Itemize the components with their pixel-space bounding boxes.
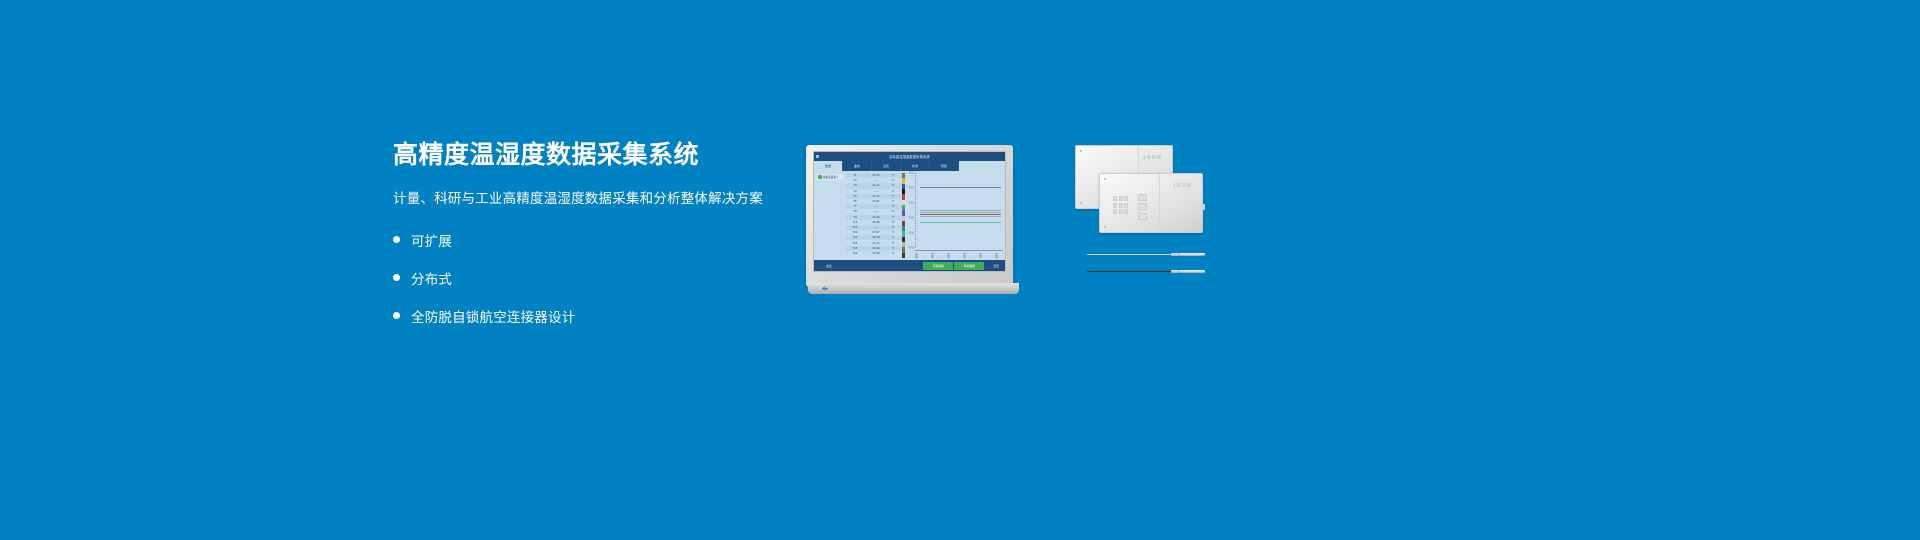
app-window-title: 高精度温湿度数据采集系统 — [889, 154, 930, 159]
cell-value: ---- — [864, 205, 888, 208]
y-tick-label: 25.0 — [909, 172, 914, 175]
tab-data[interactable]: 数据 — [814, 161, 843, 171]
chart-plot-area — [915, 173, 1003, 248]
exit-button[interactable]: 退出 — [826, 264, 832, 268]
cell-value: 24.13 — [864, 242, 888, 245]
feature-label: 全防脱自锁航空连接器设计 — [411, 306, 575, 326]
temperature-probe-steel — [1087, 253, 1205, 256]
channel-color-legend — [902, 173, 905, 258]
device-list-panel: 数据采集器 1 — [814, 171, 846, 260]
cell-channel: T4 — [846, 190, 864, 193]
cell-unit: ℃ — [888, 242, 898, 245]
logger-seam — [1159, 174, 1160, 232]
chart-series-line — [920, 222, 1001, 223]
probe-collar — [1171, 253, 1179, 256]
monitor-bezel: 高精度温湿度数据采集系统 数据 曲线 设置 校准 — [806, 145, 1013, 287]
app-bottom-bar: 退出 开始采集 导出数据 设置 — [814, 260, 1005, 271]
cell-unit: ℃ — [888, 231, 898, 234]
cell-channel: T11 — [846, 226, 864, 229]
cell-value: 23.96 — [864, 252, 888, 255]
cell-channel: T5 — [846, 195, 864, 198]
monitor-stand — [808, 283, 1019, 294]
cell-unit: ℃ — [888, 236, 898, 239]
tab-calibration[interactable]: 校准 — [901, 161, 930, 171]
probe-collar — [1171, 270, 1179, 273]
device-product-images: JNON JNON — [1065, 145, 1205, 295]
cell-unit: ℃ — [888, 221, 898, 224]
export-data-button[interactable]: 导出数据 — [954, 262, 984, 270]
cell-value: 23.15 — [864, 174, 888, 177]
cell-channel: T13 — [846, 236, 864, 239]
y-tick-label: 23.0 — [909, 202, 914, 205]
cell-value: ---- — [864, 210, 888, 213]
temperature-probe-black — [1087, 270, 1205, 273]
tab-help[interactable]: 帮助 — [930, 161, 959, 171]
trend-chart: 25.024.023.022.021.020.0 10:0010:1010:20… — [906, 173, 1003, 258]
cell-value: ---- — [864, 190, 888, 193]
cell-unit: ℃ — [888, 200, 898, 203]
tab-label: 曲线 — [854, 164, 860, 168]
table-row[interactable]: T1623.96℃ — [846, 251, 902, 256]
feature-label: 可扩展 — [411, 230, 452, 250]
cell-channel: T8 — [846, 210, 864, 213]
cell-unit: ℃ — [888, 195, 898, 198]
cell-unit: ℃ — [888, 205, 898, 208]
cell-value: 24.86 — [864, 221, 888, 224]
banner-copy: 高精度温湿度数据采集系统 计量、科研与工业高精度温湿度数据采集和分析整体解决方案… — [393, 140, 813, 344]
monitor-screen: 高精度温湿度数据采集系统 数据 曲线 设置 校准 — [814, 152, 1005, 271]
chart-series-line — [920, 214, 1001, 215]
connector-ports-icon — [1138, 194, 1147, 220]
tab-label: 设置 — [883, 164, 889, 168]
y-tick-label: 24.0 — [909, 187, 914, 190]
cell-channel: T9 — [846, 216, 864, 219]
dot-bullet-icon — [393, 274, 400, 281]
cell-channel: T10 — [846, 221, 864, 224]
cell-unit: ℃ — [888, 179, 898, 182]
cell-channel: T12 — [846, 231, 864, 234]
logger-brand-label: JNON — [1144, 155, 1162, 161]
list-item[interactable]: 数据采集器 1 — [816, 174, 844, 180]
tab-label: 帮助 — [941, 164, 947, 168]
monitor-product-image: 高精度温湿度数据采集系统 数据 曲线 设置 校准 — [806, 145, 1021, 295]
chart-series-line — [920, 187, 1001, 188]
cell-unit: ℃ — [888, 247, 898, 250]
cell-unit: ℃ — [888, 216, 898, 219]
tab-label: 数据 — [825, 164, 831, 168]
cell-unit: ℃ — [888, 226, 898, 229]
probe-cable — [1087, 254, 1179, 255]
y-tick-label: 21.0 — [909, 232, 914, 235]
probe-tip — [1179, 270, 1205, 273]
cell-value: 24.28 — [864, 236, 888, 239]
tab-bar-filler — [959, 161, 1005, 171]
app-window-icon — [816, 155, 819, 158]
cell-value: 24.72 — [864, 195, 888, 198]
x-tick-label: 10:50 — [994, 253, 997, 258]
brand-logo-icon — [822, 286, 828, 291]
cell-channel: T1 — [846, 174, 864, 177]
feature-label: 分布式 — [411, 268, 452, 288]
x-tick-label: 10:00 — [915, 253, 918, 258]
app-tab-bar: 数据 曲线 设置 校准 帮助 — [814, 161, 1005, 171]
cell-unit: ℃ — [888, 184, 898, 187]
cell-value: ---- — [864, 226, 888, 229]
cell-channel: T7 — [846, 205, 864, 208]
feature-item-1: 可扩展 — [393, 230, 813, 250]
keypad-icon — [1113, 196, 1128, 214]
screw-icon — [1080, 202, 1082, 204]
app-titlebar: 高精度温湿度数据采集系统 — [814, 152, 1005, 161]
cell-channel: T6 — [846, 200, 864, 203]
cell-channel: T2 — [846, 179, 864, 182]
app-body: 数据采集器 1 T123.15℃T2----℃T324.11℃T4----℃T5… — [814, 171, 1005, 260]
data-logger-front: JNON — [1099, 173, 1203, 233]
legend-swatch — [902, 253, 905, 258]
settings-button[interactable]: 设置 — [993, 264, 999, 268]
cell-channel: T15 — [846, 247, 864, 250]
logger-brand-label: JNON — [1174, 183, 1192, 189]
cell-unit: ℃ — [888, 210, 898, 213]
x-tick-label: 10:30 — [962, 253, 965, 258]
tab-label: 校准 — [912, 164, 918, 168]
y-tick-label: 22.0 — [909, 217, 914, 220]
cell-value: 24.90 — [864, 247, 888, 250]
cell-channel: T14 — [846, 242, 864, 245]
cell-value: 23.61 — [864, 200, 888, 203]
product-banner: 高精度温湿度数据采集系统 计量、科研与工业高精度温湿度数据采集和分析整体解决方案… — [0, 0, 1920, 540]
chart-series-line — [920, 212, 1001, 213]
page-subtitle: 计量、科研与工业高精度温湿度数据采集和分析整体解决方案 — [393, 191, 813, 209]
screw-icon — [1104, 226, 1106, 228]
side-connector-icon — [1202, 204, 1205, 210]
screw-icon — [1080, 150, 1082, 152]
tab-settings[interactable]: 设置 — [872, 161, 901, 171]
cell-channel: T3 — [846, 184, 864, 187]
feature-item-2: 分布式 — [393, 268, 813, 288]
device-name-label: 数据采集器 1 — [823, 175, 838, 179]
status-indicator-icon — [818, 175, 822, 179]
cell-value: 24.90 — [864, 216, 888, 219]
start-acquisition-button[interactable]: 开始采集 — [923, 262, 953, 270]
cell-channel: T16 — [846, 252, 864, 255]
probe-tip — [1179, 253, 1205, 256]
cell-value: 23.97 — [864, 231, 888, 234]
feature-item-3: 全防脱自锁航空连接器设计 — [393, 306, 813, 326]
cell-value: 24.11 — [864, 184, 888, 187]
x-tick-label: 10:20 — [947, 253, 950, 258]
x-tick-label: 10:10 — [931, 253, 934, 258]
screw-icon — [1104, 178, 1106, 180]
tab-curve[interactable]: 曲线 — [843, 161, 872, 171]
y-tick-label: 20.0 — [909, 247, 914, 250]
dot-bullet-icon — [393, 312, 400, 319]
chart-series-line — [920, 210, 1001, 211]
cell-unit: ℃ — [888, 190, 898, 193]
page-title: 高精度温湿度数据采集系统 — [393, 140, 813, 170]
cell-unit: ℃ — [888, 174, 898, 177]
dot-bullet-icon — [393, 236, 400, 243]
x-tick-label: 10:40 — [978, 253, 981, 258]
probe-cable — [1087, 271, 1179, 272]
chart-series-line — [920, 216, 1001, 217]
feature-list: 可扩展 分布式 全防脱自锁航空连接器设计 — [393, 230, 813, 326]
cell-value: ---- — [864, 179, 888, 182]
channel-data-table: T123.15℃T2----℃T324.11℃T4----℃T524.72℃T6… — [846, 171, 902, 260]
cell-unit: ℃ — [888, 252, 898, 255]
